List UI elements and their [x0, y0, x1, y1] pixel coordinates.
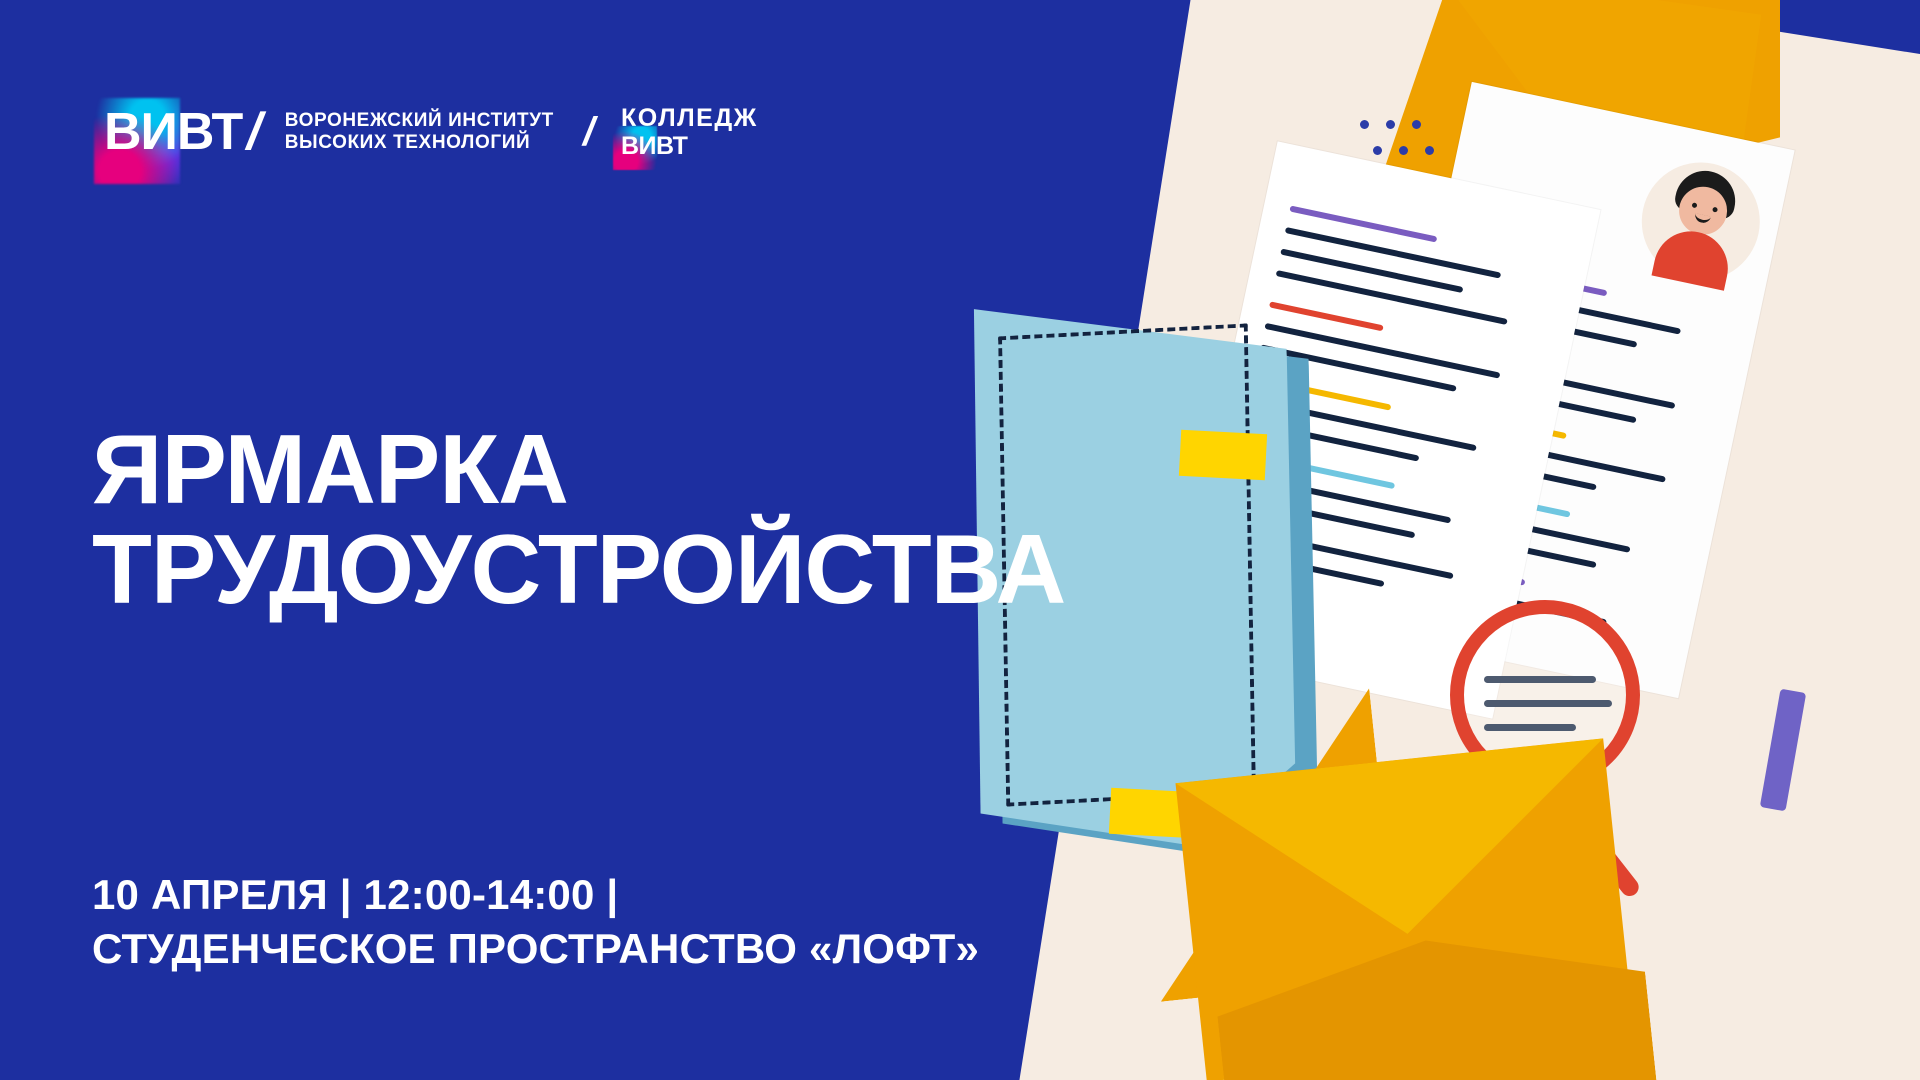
vivt-logo-mark: ВИВТ /	[104, 106, 263, 158]
page-title-line2: ТРУДОУСТРОЙСТВА	[92, 520, 1065, 620]
event-details-line2: СТУДЕНЧЕСКОЕ ПРОСТРАНСТВО «ЛОФТ»	[92, 922, 979, 976]
college-label-bottom: ВИВТ	[621, 132, 758, 160]
person-avatar	[1631, 151, 1771, 291]
logo-divider-icon: /	[580, 112, 600, 152]
logo-slash-icon: /	[243, 106, 269, 158]
vivt-wordmark: ВИВТ	[104, 106, 242, 158]
page-title-line1: ЯРМАРКА	[92, 420, 1065, 520]
college-logo: КОЛЛЕДЖ ВИВТ	[621, 104, 758, 160]
institute-name-line2: ВЫСОКИХ ТЕХНОЛОГИЙ	[285, 132, 554, 154]
page-title: ЯРМАРКА ТРУДОУСТРОЙСТВА	[92, 420, 1065, 620]
sticky-tab-top	[1179, 430, 1267, 480]
poster-canvas: ВИВТ / ВОРОНЕЖСКИЙ ИНСТИТУТ ВЫСОКИХ ТЕХН…	[0, 0, 1920, 1080]
institute-name-line1: ВОРОНЕЖСКИЙ ИНСТИТУТ	[285, 110, 554, 132]
event-details: 10 АПРЕЛЯ | 12:00-14:00 | СТУДЕНЧЕСКОЕ П…	[92, 868, 979, 976]
logo-lockup[interactable]: ВИВТ / ВОРОНЕЖСКИЙ ИНСТИТУТ ВЫСОКИХ ТЕХН…	[104, 104, 758, 160]
institute-name: ВОРОНЕЖСКИЙ ИНСТИТУТ ВЫСОКИХ ТЕХНОЛОГИЙ	[285, 110, 554, 155]
event-details-line1: 10 АПРЕЛЯ | 12:00-14:00 |	[92, 868, 979, 922]
